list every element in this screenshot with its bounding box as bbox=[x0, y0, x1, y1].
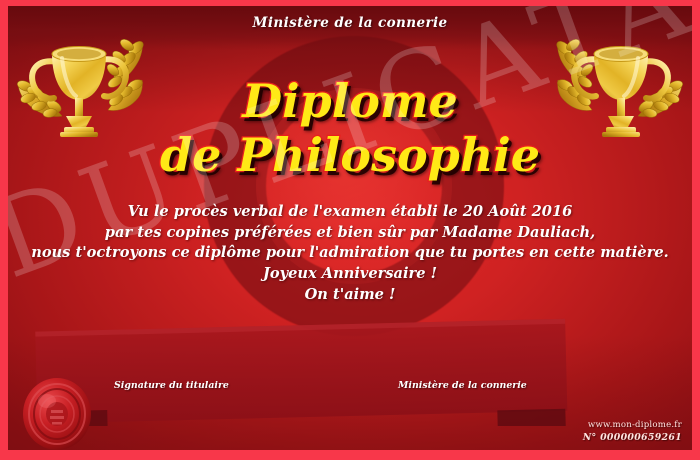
ribbon-fold-right bbox=[497, 409, 566, 426]
signature-titulaire-label: Signature du titulaire bbox=[114, 380, 229, 391]
body-line-3: nous t'octroyons ce diplôme pour l'admir… bbox=[30, 243, 670, 264]
body-line-1: Vu le procès verbal de l'examen établi l… bbox=[30, 202, 670, 223]
diploma-title-line-1: Diplome bbox=[8, 78, 692, 124]
website-url[interactable]: www.mon-diplome.fr bbox=[583, 420, 682, 430]
diploma-title-line-2: de Philosophie bbox=[8, 132, 692, 178]
diploma-title: Diplome de Philosophie bbox=[8, 78, 692, 178]
wax-seal-icon bbox=[20, 374, 94, 450]
footer-block: www.mon-diplome.fr N° 000000659261 bbox=[583, 420, 682, 443]
body-line-2: par tes copines préférées et bien sûr pa… bbox=[30, 223, 670, 244]
signature-ministry-label: Ministère de la connerie bbox=[398, 380, 527, 391]
body-line-4: Joyeux Anniversaire ! bbox=[30, 264, 670, 285]
certificate-canvas: Ministère de la connerie bbox=[0, 0, 700, 460]
diploma-body-text: Vu le procès verbal de l'examen établi l… bbox=[30, 202, 670, 306]
body-line-5: On t'aime ! bbox=[30, 285, 670, 306]
serial-number: N° 000000659261 bbox=[583, 432, 682, 443]
certificate-field: Ministère de la connerie bbox=[8, 6, 692, 450]
